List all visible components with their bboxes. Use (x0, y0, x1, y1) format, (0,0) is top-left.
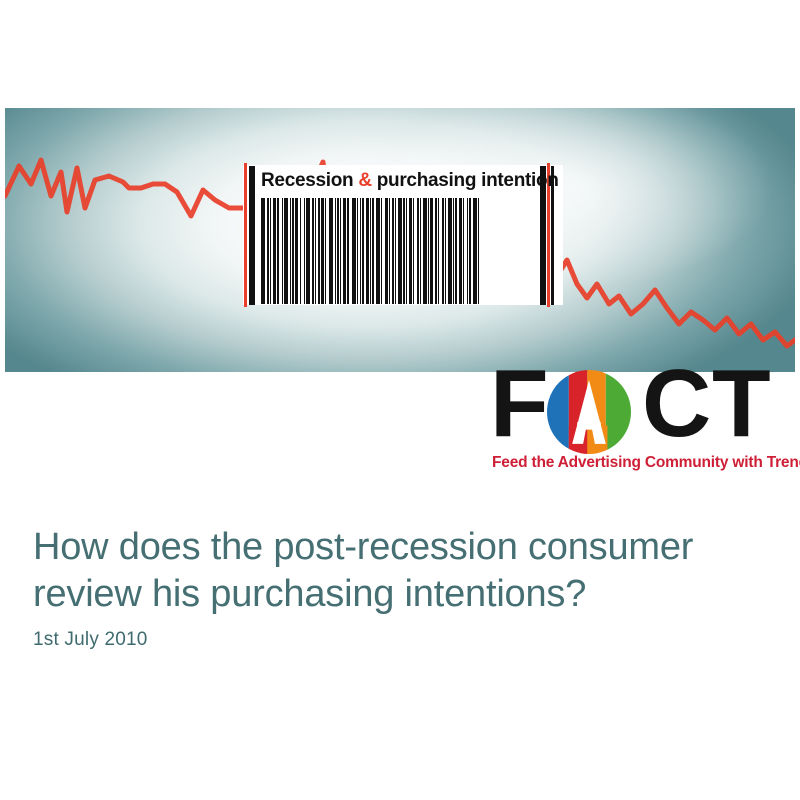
logo-tagline: Feed the Advertising Community with Tren… (492, 454, 800, 472)
barcode-bar (306, 198, 310, 304)
logo-letter-t: T (712, 360, 769, 448)
barcode-bar (284, 198, 288, 304)
barcode-bar (417, 198, 419, 304)
barcode-bar (337, 198, 339, 304)
logo-a-pie-icon (547, 370, 631, 454)
logo-letter-c: C (642, 360, 709, 448)
barcode-bar (409, 198, 412, 304)
barcode-bar (304, 198, 305, 304)
fact-logo: F C T (490, 366, 795, 478)
barcode-bar (442, 198, 444, 304)
barcode-title: Recession & purchasing intention (261, 166, 537, 196)
fact-logo-wordmark: F C T (490, 366, 795, 454)
barcode-graphic: Recession & purchasing intention (243, 165, 563, 305)
barcode-bar (277, 198, 279, 304)
barcode-bar (321, 198, 324, 304)
barcode-red-edge-left (244, 163, 247, 307)
barcode-bar (357, 198, 358, 304)
barcode-bar (467, 198, 468, 304)
barcode-bar (406, 198, 407, 304)
barcode-bar (398, 198, 402, 304)
barcode-bar (295, 198, 298, 304)
barcode-bar (392, 198, 394, 304)
barcode-bar (438, 198, 439, 304)
barcode-bar (478, 198, 479, 304)
barcode-bar (381, 198, 382, 304)
headline-line-2: review his purchasing intentions? (33, 571, 773, 618)
barcode-bar (413, 198, 414, 304)
barcode-bar (270, 198, 271, 304)
barcode-title-suffix: purchasing intention (372, 170, 559, 191)
barcode-bar (428, 198, 429, 304)
barcode-bar (282, 198, 283, 304)
barcode-bar (430, 198, 433, 304)
barcode-bar (473, 198, 477, 304)
logo-letter-f: F (490, 360, 547, 448)
barcode-bar (343, 198, 346, 304)
barcode-bar (423, 198, 427, 304)
barcode-bar (300, 198, 301, 304)
barcode-bar (453, 198, 454, 304)
barcode-bar (318, 198, 320, 304)
barcode-bar (395, 198, 396, 304)
barcode-bar (448, 198, 452, 304)
barcode-title-ampersand: & (358, 170, 371, 191)
barcode-bar (335, 198, 336, 304)
barcode-bar (376, 198, 380, 304)
barcode-bar (420, 198, 421, 304)
barcode-bar (290, 198, 291, 304)
barcode-bar (403, 198, 405, 304)
barcode-bar (292, 198, 294, 304)
barcode-bar (385, 198, 388, 304)
barcode-bar (325, 198, 326, 304)
barcode-bar (347, 198, 349, 304)
slide-date: 1st July 2010 (33, 629, 148, 651)
barcode-bar (469, 198, 471, 304)
barcode-bar (455, 198, 457, 304)
barcode-bar (329, 198, 333, 304)
slide-canvas: Recession & purchasing intention F C T (0, 0, 800, 800)
barcode-bars (261, 198, 537, 304)
barcode-bar (370, 198, 371, 304)
barcode-bar (267, 198, 269, 304)
page-title: How does the post-recession consumer rev… (33, 524, 773, 618)
barcode-bar (463, 198, 464, 304)
barcode-guard-left (249, 166, 255, 305)
barcode-bar (312, 198, 314, 304)
barcode-bar (352, 198, 356, 304)
barcode-bar (389, 198, 390, 304)
barcode-bar (459, 198, 462, 304)
barcode-bar (340, 198, 341, 304)
barcode-bar (362, 198, 364, 304)
hero-banner-image: Recession & purchasing intention (5, 108, 795, 372)
barcode-bar (445, 198, 446, 304)
barcode-bar (435, 198, 437, 304)
barcode-bar (273, 198, 276, 304)
barcode-bar (315, 198, 316, 304)
barcode-title-prefix: Recession (261, 170, 358, 191)
barcode-bar (360, 198, 361, 304)
barcode-bar (261, 198, 265, 304)
barcode-bar (366, 198, 369, 304)
barcode-bar (372, 198, 374, 304)
headline-line-1: How does the post-recession consumer (33, 526, 693, 568)
